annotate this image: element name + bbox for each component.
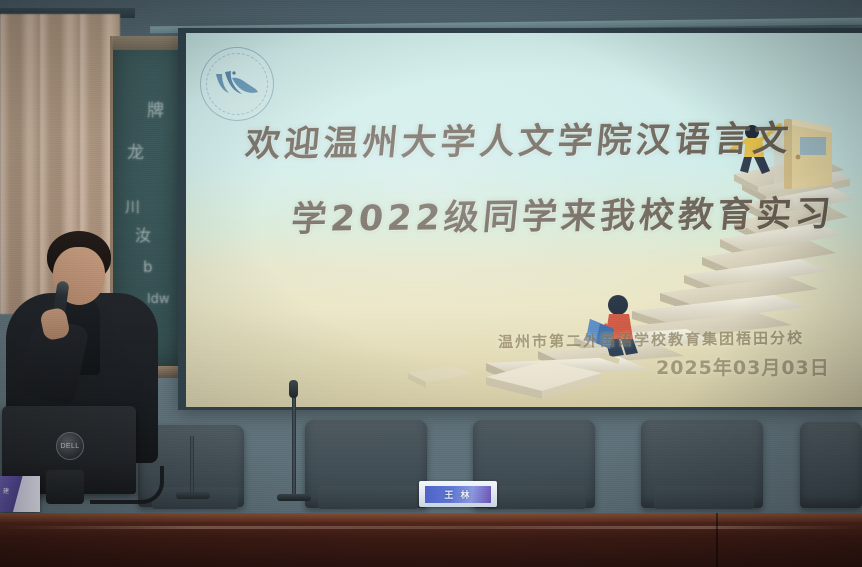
name-placard: 王 林	[419, 481, 497, 507]
front-desk-seam	[716, 513, 718, 567]
chalk-mark: 川	[125, 196, 140, 217]
desk-book: 建	[0, 476, 40, 512]
chalk-mark: 牌	[147, 96, 164, 121]
table-mic-base	[176, 492, 210, 499]
chair-seat	[654, 486, 754, 509]
chair-seat	[318, 486, 418, 509]
table-mic-pole	[292, 388, 296, 494]
table-mic-head	[289, 380, 298, 398]
slide-organization: 温州市第二外国语学校教育集团梧田分校	[498, 327, 804, 352]
slide-title-line-1: 欢迎温州大学人文学院汉语言文	[243, 110, 828, 167]
slide-text: 欢迎温州大学人文学院汉语言文 学2022级同学来我校教育实习 温州市第二外国语学…	[186, 33, 862, 407]
desk-book-label: 建	[3, 486, 10, 495]
dell-logo-icon: DELL	[56, 432, 84, 460]
front-desk-edge	[0, 513, 862, 522]
monitor-cable	[90, 466, 164, 504]
projection-screen: 欢迎温州大学人文学院汉语言文 学2022级同学来我校教育实习 温州市第二外国语学…	[186, 33, 862, 407]
name-placard-text: 王 林	[425, 486, 491, 503]
table-mic-base	[277, 494, 311, 501]
chair-seat	[486, 486, 586, 509]
front-desk-highlight	[0, 526, 862, 529]
slide-date: 2025年03月03日	[656, 353, 830, 380]
slide-title-line-2: 学2022级同学来我校教育实习	[289, 185, 854, 242]
lecture-hall-photo: 牌 龙 川 汝 b ldw	[0, 0, 862, 567]
chalk-mark: 龙	[127, 138, 144, 163]
monitor-stand	[46, 470, 84, 504]
table-mic-pole	[190, 436, 194, 494]
chair	[800, 422, 862, 508]
